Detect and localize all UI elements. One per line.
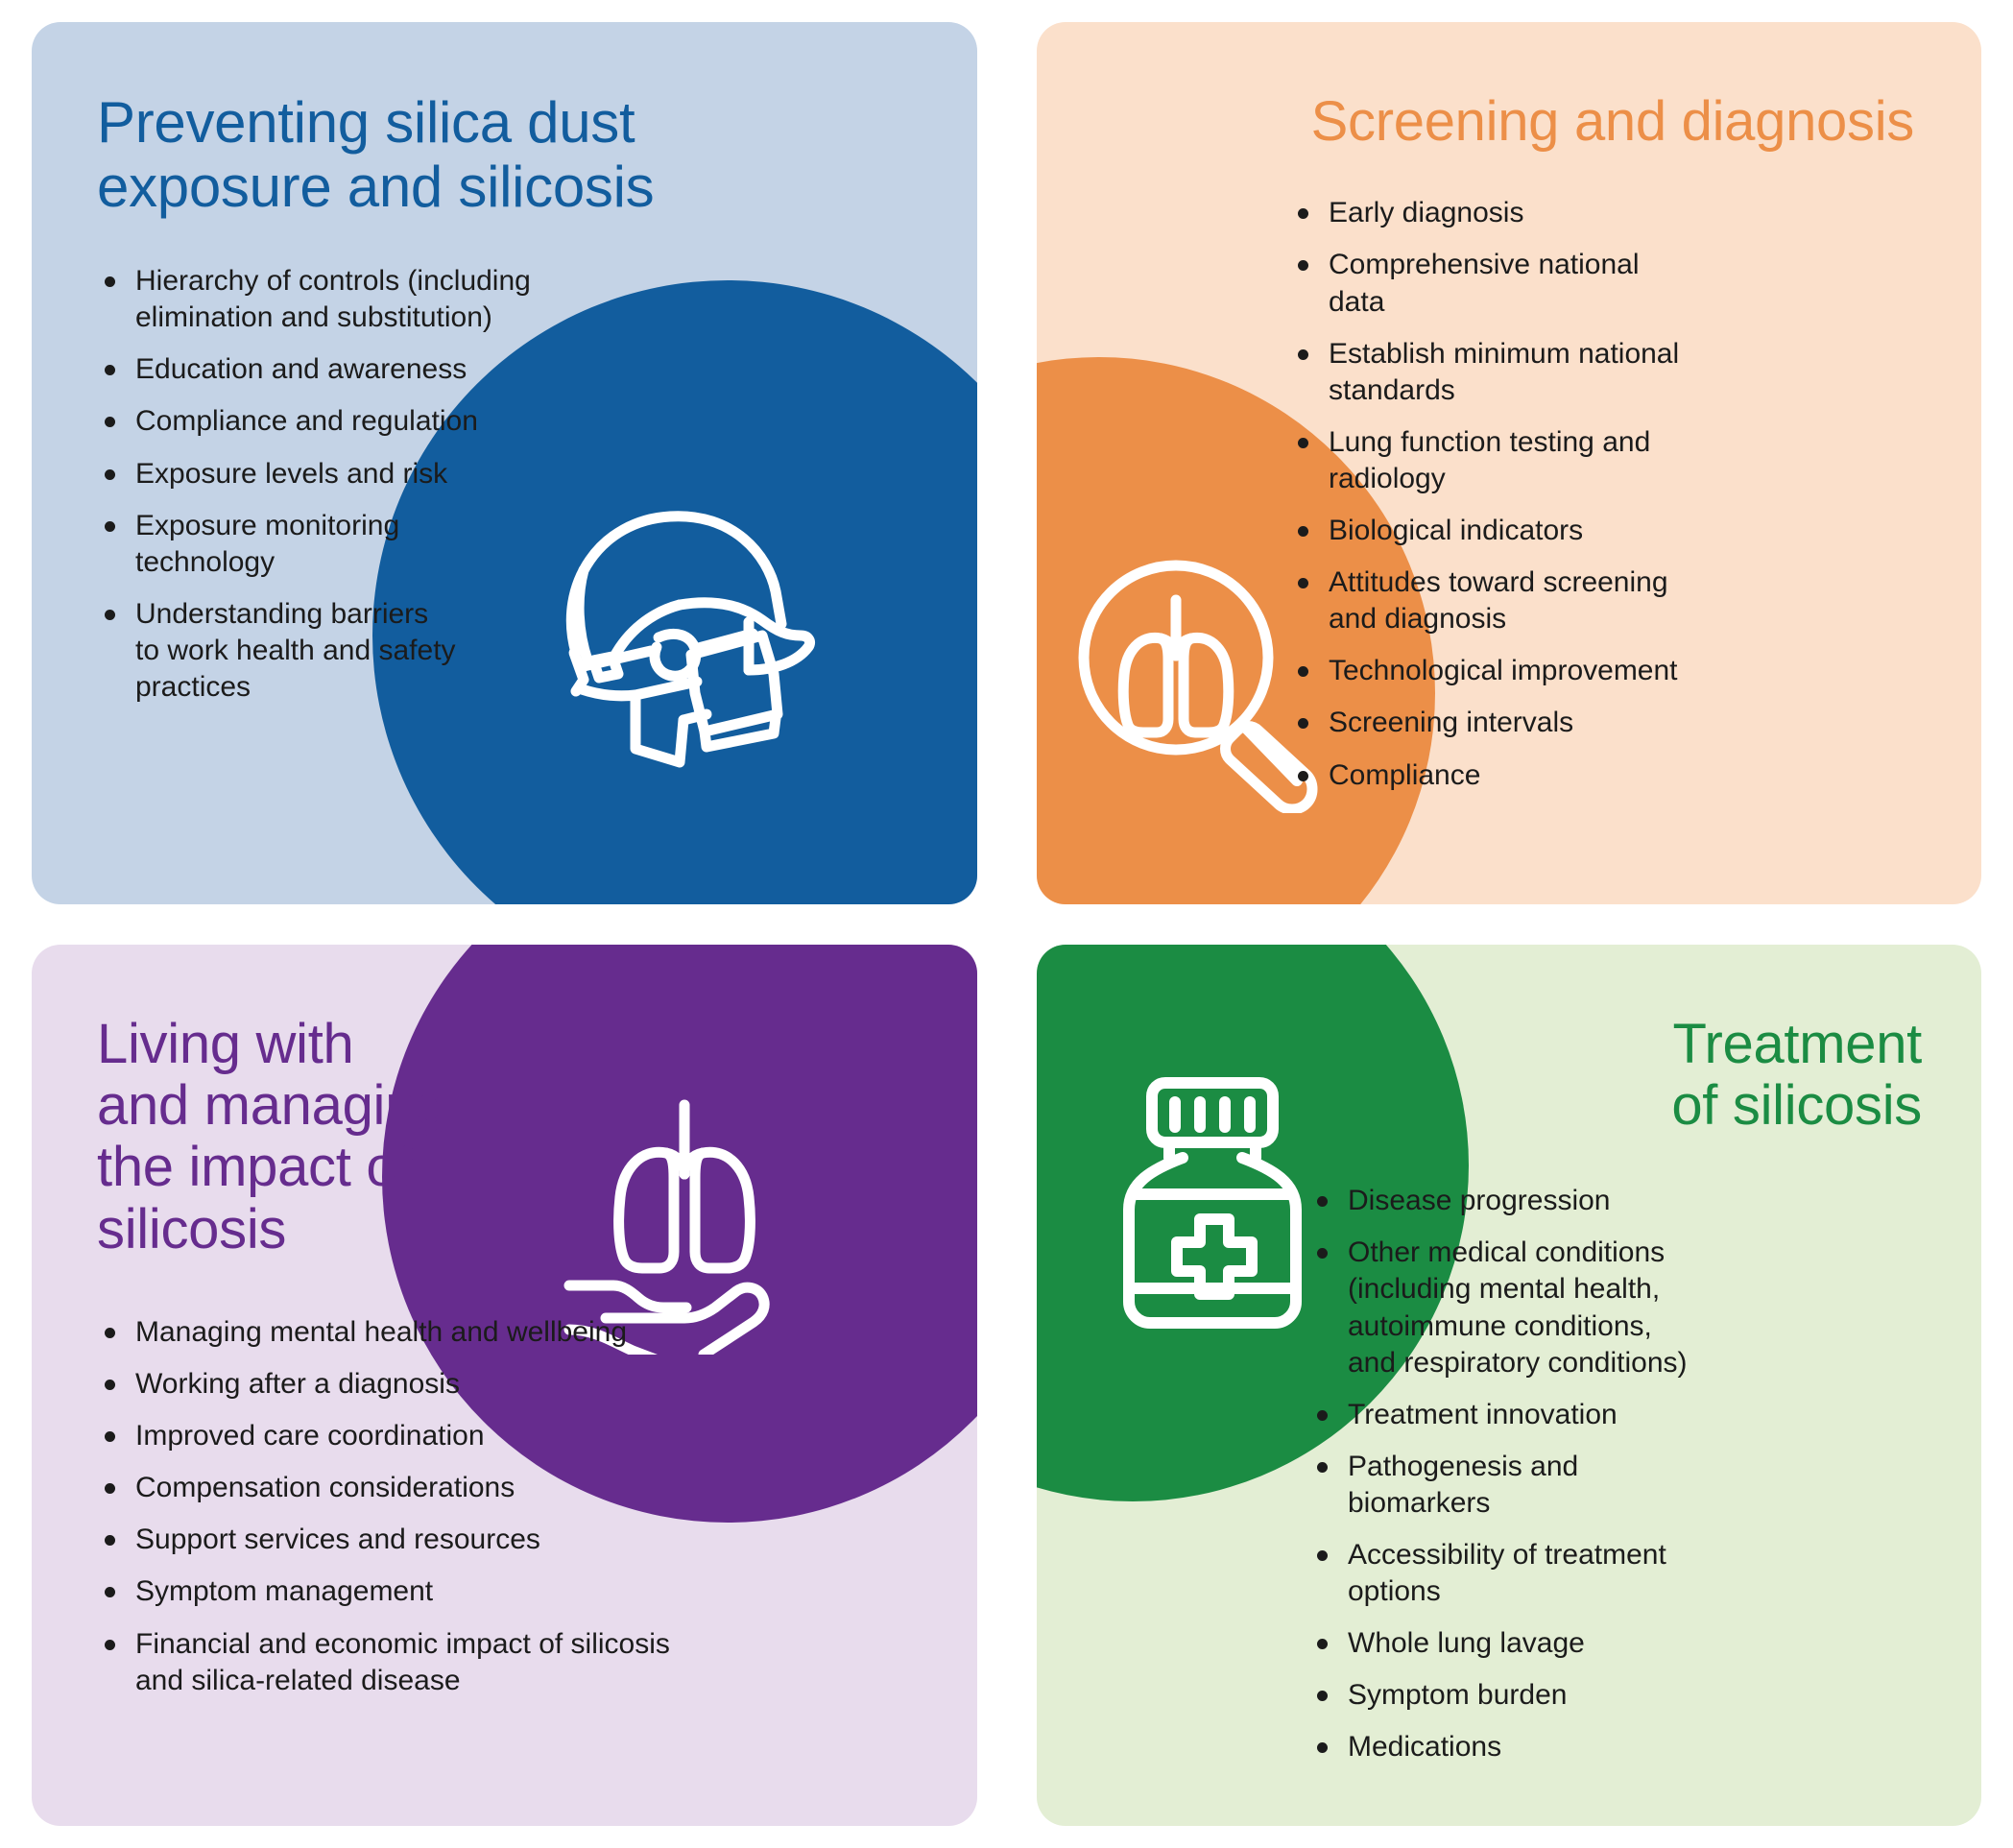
treatment-content: Treatment of silicosis Disease progressi…: [1309, 945, 1981, 1827]
list-item: Whole lung lavage: [1309, 1625, 1922, 1662]
list-item: Education and awareness: [97, 351, 694, 388]
list-item: Hierarchy of controls (including elimina…: [97, 263, 694, 336]
list-item: Support services and resources: [97, 1522, 800, 1558]
list-item: Accessibility of treatment options: [1309, 1537, 1922, 1610]
prevention-content: Preventing silica dust exposure and sili…: [32, 22, 694, 904]
panel-screening: Screening and diagnosis Early diagnosis …: [1037, 22, 1982, 904]
list-item: Comprehensive national data: [1290, 247, 1914, 320]
list-item: Compensation considerations: [97, 1470, 800, 1506]
list-item: Treatment innovation: [1309, 1397, 1922, 1433]
list-item: Early diagnosis: [1290, 195, 1914, 231]
list-item: Understanding barriers to work health an…: [97, 596, 694, 706]
list-item: Exposure monitoring technology: [97, 508, 694, 581]
prevention-title: Preventing silica dust exposure and sili…: [97, 91, 694, 219]
list-item: Improved care coordination: [97, 1418, 800, 1454]
screening-title: Screening and diagnosis: [1290, 91, 1914, 153]
list-item: Other medical conditions (including ment…: [1309, 1235, 1922, 1380]
list-item: Symptom burden: [1309, 1677, 1922, 1714]
screening-content: Screening and diagnosis Early diagnosis …: [1290, 22, 1981, 904]
panel-living: Living with and managing the impact of s…: [32, 945, 977, 1827]
list-item: Technological improvement: [1290, 653, 1914, 689]
list-item: Establish minimum national standards: [1290, 336, 1914, 409]
list-item: Lung function testing and radiology: [1290, 424, 1914, 497]
screening-bullet-list: Early diagnosis Comprehensive national d…: [1290, 195, 1914, 793]
list-item: Medications: [1309, 1729, 1922, 1765]
living-bullet-list: Managing mental health and wellbeing Wor…: [97, 1314, 800, 1699]
list-item: Attitudes toward screening and diagnosis: [1290, 564, 1914, 637]
list-item: Disease progression: [1309, 1183, 1922, 1219]
panel-prevention: Preventing silica dust exposure and sili…: [32, 22, 977, 904]
list-item: Biological indicators: [1290, 513, 1914, 549]
list-item: Compliance and regulation: [97, 403, 694, 440]
list-item: Managing mental health and wellbeing: [97, 1314, 800, 1351]
list-item: Pathogenesis and biomarkers: [1309, 1449, 1922, 1522]
list-item: Working after a diagnosis: [97, 1366, 800, 1403]
living-title: Living with and managing the impact of s…: [97, 1014, 800, 1261]
list-item: Compliance: [1290, 757, 1914, 794]
list-item: Symptom management: [97, 1573, 800, 1610]
list-item: Financial and economic impact of silicos…: [97, 1626, 800, 1699]
panel-treatment: Treatment of silicosis Disease progressi…: [1037, 945, 1982, 1827]
medicine-bottle-icon: [1094, 1069, 1334, 1338]
treatment-title: Treatment of silicosis: [1309, 1014, 1922, 1138]
list-item: Exposure levels and risk: [97, 456, 694, 492]
treatment-bullet-list: Disease progression Other medical condit…: [1309, 1183, 1922, 1765]
living-content: Living with and managing the impact of s…: [32, 945, 800, 1827]
prevention-bullet-list: Hierarchy of controls (including elimina…: [97, 263, 694, 706]
silicosis-research-priorities-infographic: Preventing silica dust exposure and sili…: [0, 0, 2013, 1848]
list-item: Screening intervals: [1290, 705, 1914, 741]
